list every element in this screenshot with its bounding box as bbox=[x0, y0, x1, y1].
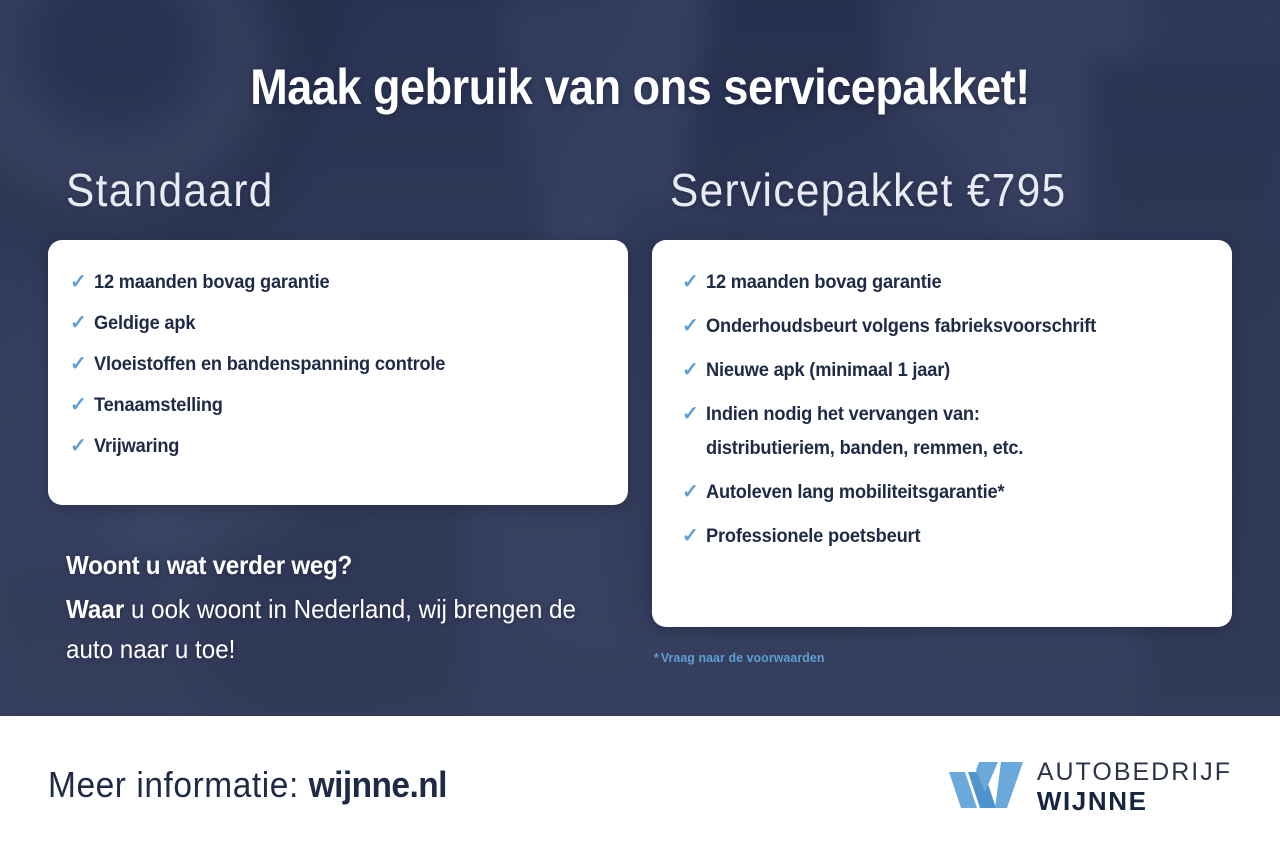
footer-prefix: Meer informatie: bbox=[48, 764, 309, 805]
check-icon: ✓ bbox=[682, 271, 699, 293]
list-item-label: Vloeistoffen en bandenspanning controle bbox=[94, 354, 445, 376]
list-item-label: Geldige apk bbox=[94, 313, 195, 335]
check-icon: ✓ bbox=[70, 394, 87, 416]
footnote: *Vraag naar de voorwaarden bbox=[654, 650, 824, 665]
list-item: ✓ 12 maanden bovag garantie bbox=[682, 272, 1206, 294]
wijnne-w-logo-icon bbox=[949, 762, 1023, 813]
check-icon: ✓ bbox=[70, 312, 87, 334]
check-icon: ✓ bbox=[682, 315, 699, 337]
check-icon: ✓ bbox=[682, 403, 699, 425]
list-item-main: Indien nodig het vervangen van: bbox=[706, 404, 980, 425]
list-item-label: 12 maanden bovag garantie bbox=[94, 272, 329, 294]
feature-list-servicepakket: ✓ 12 maanden bovag garantie ✓ Onderhouds… bbox=[682, 272, 1206, 548]
list-item: ✓ Tenaamstelling bbox=[70, 395, 602, 417]
list-item-label: Autoleven lang mobiliteitsgarantie* bbox=[706, 482, 1004, 504]
list-item-label: Professionele poetsbeurt bbox=[706, 526, 920, 548]
list-item-label: Nieuwe apk (minimaal 1 jaar) bbox=[706, 360, 950, 382]
list-item-label: 12 maanden bovag garantie bbox=[706, 272, 941, 294]
logo-word-autobedrijf: AUTOBEDRIJF bbox=[1037, 760, 1232, 785]
column-title-servicepakket: Servicepakket €795 bbox=[670, 163, 1067, 217]
asterisk-icon: * bbox=[654, 650, 659, 665]
list-item: ✓ Professionele poetsbeurt bbox=[682, 526, 1206, 548]
logo-word-wijnne: WIJNNE bbox=[1037, 788, 1232, 814]
list-item: ✓ Vrijwaring bbox=[70, 436, 602, 458]
card-standaard: ✓ 12 maanden bovag garantie ✓ Geldige ap… bbox=[48, 240, 628, 505]
list-item: ✓ Indien nodig het vervangen van: distri… bbox=[682, 404, 1206, 460]
check-icon: ✓ bbox=[682, 359, 699, 381]
list-item-label: Onderhoudsbeurt volgens fabrieksvoorschr… bbox=[706, 316, 1096, 338]
list-item: ✓ Nieuwe apk (minimaal 1 jaar) bbox=[682, 360, 1206, 382]
footnote-label: Vraag naar de voorwaarden bbox=[661, 650, 825, 665]
list-item: ✓ Onderhoudsbeurt volgens fabrieksvoorsc… bbox=[682, 316, 1206, 338]
check-icon: ✓ bbox=[682, 481, 699, 503]
logo-wordmark: AUTOBEDRIJF WIJNNE bbox=[1037, 760, 1232, 814]
promo-text-block: Woont u wat verder weg? Waar u ook woont… bbox=[66, 550, 626, 670]
card-servicepakket: ✓ 12 maanden bovag garantie ✓ Onderhouds… bbox=[652, 240, 1232, 627]
list-item: ✓ Vloeistoffen en bandenspanning control… bbox=[70, 354, 602, 376]
promo-line-2: Waar u ook woont in Nederland, wij breng… bbox=[66, 589, 587, 670]
footer-website[interactable]: wijnne.nl bbox=[309, 764, 447, 805]
list-item: ✓ 12 maanden bovag garantie bbox=[70, 272, 602, 294]
feature-list-standaard: ✓ 12 maanden bovag garantie ✓ Geldige ap… bbox=[70, 272, 602, 458]
footer-more-info: Meer informatie: wijnne.nl bbox=[48, 764, 447, 806]
list-item-label: Tenaamstelling bbox=[94, 395, 223, 417]
check-icon: ✓ bbox=[682, 525, 699, 547]
promo-line-1: Woont u wat verder weg? bbox=[66, 550, 587, 581]
footer-bar: Meer informatie: wijnne.nl AUTOBEDRIJF W… bbox=[0, 716, 1280, 853]
service-package-banner: Maak gebruik van ons servicepakket! Stan… bbox=[0, 0, 1280, 853]
column-title-standaard: Standaard bbox=[66, 163, 274, 217]
logo[interactable]: AUTOBEDRIJF WIJNNE bbox=[949, 760, 1232, 814]
list-item-label: Indien nodig het vervangen van: distribu… bbox=[706, 404, 1023, 460]
list-item: ✓ Autoleven lang mobiliteitsgarantie* bbox=[682, 482, 1206, 504]
promo-line-2-rest: u ook woont in Nederland, wij brengen de… bbox=[66, 594, 576, 664]
list-item-subtext: distributieriem, banden, remmen, etc. bbox=[706, 438, 1023, 460]
check-icon: ✓ bbox=[70, 435, 87, 457]
check-icon: ✓ bbox=[70, 353, 87, 375]
promo-line-2-bold: Waar bbox=[66, 594, 124, 624]
list-item-label: Vrijwaring bbox=[94, 436, 179, 458]
check-icon: ✓ bbox=[70, 271, 87, 293]
list-item: ✓ Geldige apk bbox=[70, 313, 602, 335]
